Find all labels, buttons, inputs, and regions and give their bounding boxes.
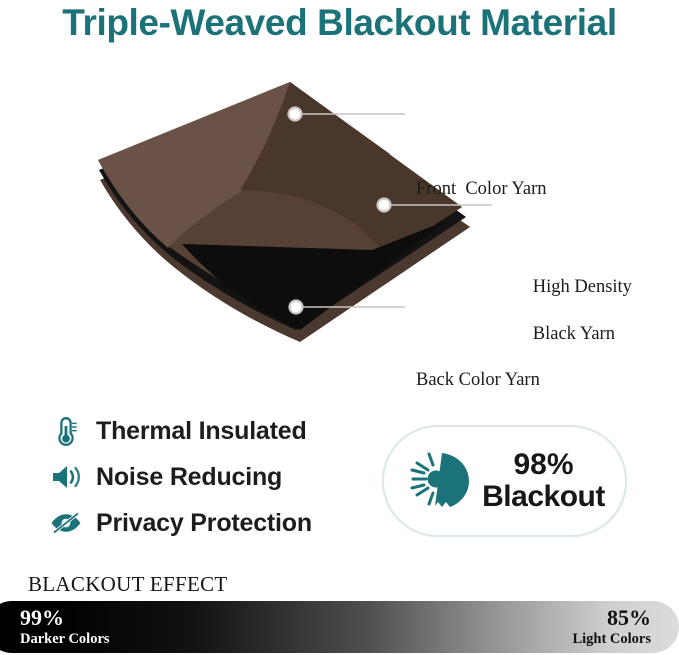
- sun-blocked-by-curtain-icon: [404, 446, 476, 516]
- speaker-sound-icon: [44, 458, 88, 496]
- eye-slash-icon: [44, 504, 88, 542]
- curtain-panel: [435, 453, 469, 507]
- light-colors-label: Light Colors: [572, 631, 651, 647]
- feature-label: Noise Reducing: [96, 463, 282, 492]
- thermometer-icon: [44, 412, 88, 450]
- gradient-bar-right-stat: 85% Light Colors: [572, 606, 651, 647]
- feature-row-thermal-insulated: Thermal Insulated: [44, 408, 374, 454]
- darker-colors-label: Darker Colors: [20, 631, 110, 647]
- blackout-word: Blackout: [482, 481, 605, 513]
- blackout-effect-gradient-bar: 99% Darker Colors 85% Light Colors: [0, 601, 679, 653]
- page-title: Triple-Weaved Blackout Material: [0, 2, 679, 44]
- feature-label: Privacy Protection: [96, 509, 312, 538]
- callout-label-back-color-yarn: Back Color Yarn: [416, 369, 540, 393]
- blackout-effect-heading: BLACKOUT EFFECT: [28, 572, 228, 597]
- feature-row-noise-reducing: Noise Reducing: [44, 454, 374, 500]
- feature-label: Thermal Insulated: [96, 417, 307, 446]
- gradient-bar-left-stat: 99% Darker Colors: [20, 606, 110, 647]
- product-infographic: Triple-Weaved Blackout Material: [0, 0, 679, 655]
- darker-colors-percent: 99%: [20, 606, 110, 631]
- callout-label-line2: Black Yarn: [533, 324, 615, 344]
- feature-list: Thermal Insulated Noise Reducing: [44, 408, 374, 546]
- blackout-percent: 98%: [482, 449, 605, 481]
- blackout-badge-text: 98% Blackout: [482, 449, 605, 514]
- light-colors-percent: 85%: [572, 606, 651, 631]
- fabric-layers-diagram: Front Color Yarn High Density Black Yarn…: [0, 72, 679, 362]
- blackout-badge: 98% Blackout: [382, 425, 627, 537]
- callout-label-line1: High Density: [533, 277, 632, 297]
- callout-label-front-color-yarn: Front Color Yarn: [416, 178, 547, 202]
- feature-row-privacy-protection: Privacy Protection: [44, 500, 374, 546]
- callout-label-high-density-black-yarn: High Density Black Yarn: [505, 252, 632, 370]
